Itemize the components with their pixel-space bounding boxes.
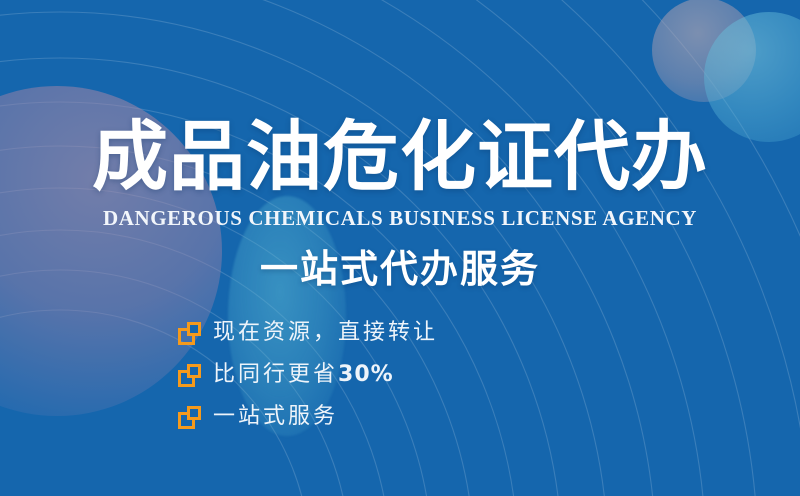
feature-bullet-label: 比同行更省30% [213,360,394,390]
feature-bullet-item: 比同行更省30% [178,358,598,392]
overlapping-squares-icon [178,364,201,387]
sub-title: 一站式代办服务 [0,245,800,293]
feature-bullet-label: 一站式服务 [213,402,338,432]
overlapping-squares-icon [178,406,201,429]
feature-bullet-list: 现在资源，直接转让 比同行更省30% 一站式服务 [178,316,598,442]
main-title: 成品油危化证代办 [0,116,800,198]
english-subtitle: DANGEROUS CHEMICALS BUSINESS LICENSE AGE… [0,205,800,231]
feature-bullet-item: 一站式服务 [178,400,598,434]
promo-banner: 成品油危化证代办 DANGEROUS CHEMICALS BUSINESS LI… [0,0,800,496]
banner-content: 成品油危化证代办 DANGEROUS CHEMICALS BUSINESS LI… [0,0,800,496]
feature-bullet-item: 现在资源，直接转让 [178,316,598,350]
feature-bullet-label: 现在资源，直接转让 [213,318,438,348]
overlapping-squares-icon [178,322,201,345]
feature-bullet-emphasis: 30% [338,362,394,387]
feature-bullet-label-text: 比同行更省 [213,362,338,387]
